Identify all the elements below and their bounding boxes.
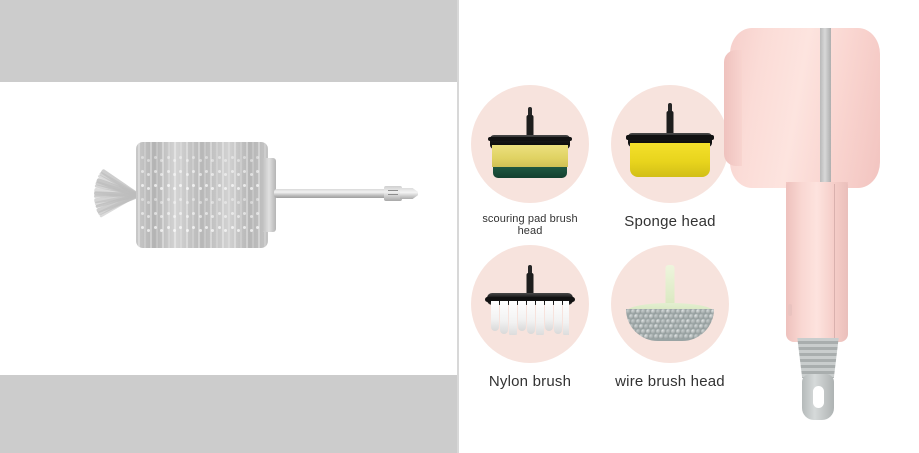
brush-shaft xyxy=(274,189,392,198)
nylon-brush-circle xyxy=(471,245,589,363)
right-panel: scouring pad brush head Sponge head xyxy=(459,0,919,453)
cap-lip xyxy=(626,135,714,140)
shaft-collar xyxy=(384,186,402,201)
device-handle-seam xyxy=(834,184,835,340)
product-image-canvas: scouring pad brush head Sponge head xyxy=(0,0,919,453)
attachment-label-wire-brush-head: wire brush head xyxy=(611,373,729,390)
yellow-sponge-layer xyxy=(492,145,568,167)
gray-band-bottom xyxy=(0,375,459,453)
device-power-button[interactable] xyxy=(788,304,792,316)
wire-brush-circle xyxy=(611,245,729,363)
yellow-sponge-body xyxy=(630,143,710,177)
green-scouring-pad-layer xyxy=(493,167,567,178)
hex-connector-icon xyxy=(400,188,418,199)
device-ribbed-cap xyxy=(796,338,840,378)
brush-bristle-tips xyxy=(136,142,268,248)
attachment-label-sponge-head: Sponge head xyxy=(611,213,729,230)
gray-band-top xyxy=(0,0,459,82)
left-panel xyxy=(0,0,459,453)
electric-cleaning-brush-device xyxy=(724,22,909,432)
attachment-label-scouring-pad: scouring pad brush head xyxy=(471,213,589,237)
attachment-sponge-head[interactable]: Sponge head xyxy=(611,85,729,230)
device-hanging-loop-hole xyxy=(813,386,824,408)
cap-lip xyxy=(488,137,572,141)
device-accent-ring xyxy=(820,28,831,188)
device-motor-head xyxy=(730,28,880,188)
device-head-end-cap xyxy=(724,50,742,166)
device-handle[interactable] xyxy=(786,182,848,342)
attachment-wire-brush-head[interactable]: wire brush head xyxy=(611,245,729,390)
attachment-nylon-brush[interactable]: Nylon brush xyxy=(471,245,589,390)
attachment-scouring-pad-brush-head[interactable]: scouring pad brush head xyxy=(471,85,589,237)
attachment-head-grid: scouring pad brush head Sponge head xyxy=(471,85,731,385)
attachment-label-nylon-brush: Nylon brush xyxy=(471,373,589,390)
sponge-head-circle xyxy=(611,85,729,203)
white-nylon-bristles xyxy=(491,301,569,335)
silicone-bottle-brush xyxy=(88,140,418,250)
scouring-pad-circle xyxy=(471,85,589,203)
steel-wire-mesh xyxy=(626,309,714,341)
